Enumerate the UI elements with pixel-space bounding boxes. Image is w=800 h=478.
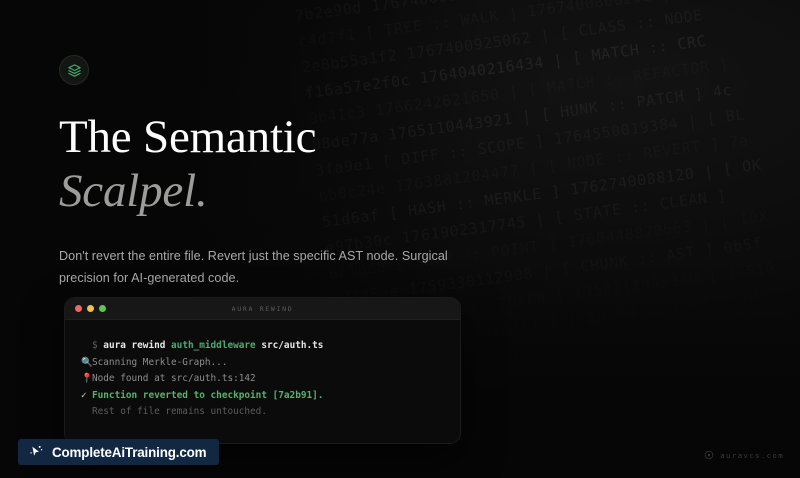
stack-layers-icon (67, 63, 82, 78)
terminal-line-command: $ aura rewind auth_middleware src/auth.t… (81, 338, 444, 355)
pin-icon: 📍 (81, 371, 92, 388)
terminal-line-text: Rest of file remains untouched. (92, 406, 267, 417)
terminal-command: aura rewind (103, 340, 171, 351)
cursor-sparkle-icon (28, 444, 44, 460)
terminal-line-text: Function reverted to checkpoint [7a2b91]… (92, 390, 323, 401)
terminal-command-arg: auth_middleware (171, 340, 256, 351)
terminal-titlebar: AURA REWIND (65, 298, 460, 320)
terminal-title: AURA REWIND (65, 305, 460, 313)
window-controls (75, 305, 106, 312)
headline-line-1: The Semantic (59, 111, 316, 163)
terminal-output: $ aura rewind auth_middleware src/auth.t… (65, 320, 460, 443)
headline-line-2: Scalpel. (59, 165, 800, 218)
watermark-auravcs: auravcs.com (704, 450, 784, 460)
hero-subtitle: Don't revert the entire file. Revert jus… (59, 246, 454, 289)
terminal-line-node-found: 📍Node found at src/auth.ts:142 (81, 371, 444, 388)
watermark-label: auravcs.com (720, 451, 784, 460)
terminal-line-scanning: 🔍Scanning Merkle-Graph... (81, 355, 444, 372)
terminal-window: AURA REWIND $ aura rewind auth_middlewar… (64, 297, 461, 444)
check-icon: ✓ (81, 388, 92, 405)
minimize-icon[interactable] (87, 305, 94, 312)
page-title: The Semantic Scalpel. (59, 111, 800, 217)
maximize-icon[interactable] (99, 305, 106, 312)
cta-badge-completeaitraining[interactable]: CompleteAiTraining.com (18, 439, 219, 465)
cta-badge-label: CompleteAiTraining.com (52, 445, 206, 460)
terminal-line-reverted: ✓Function reverted to checkpoint [7a2b91… (81, 388, 444, 405)
brand-logo[interactable] (59, 55, 89, 85)
close-icon[interactable] (75, 305, 82, 312)
aura-dot-circle-icon (704, 450, 714, 460)
terminal-line-text: Node found at src/auth.ts:142 (92, 373, 256, 384)
terminal-line-untouched: Rest of file remains untouched. (81, 404, 444, 421)
magnifier-icon: 🔍 (81, 355, 92, 372)
shell-prompt-symbol: $ (92, 340, 103, 351)
terminal-line-text: Scanning Merkle-Graph... (92, 357, 227, 368)
terminal-command-path: src/auth.ts (256, 340, 324, 351)
